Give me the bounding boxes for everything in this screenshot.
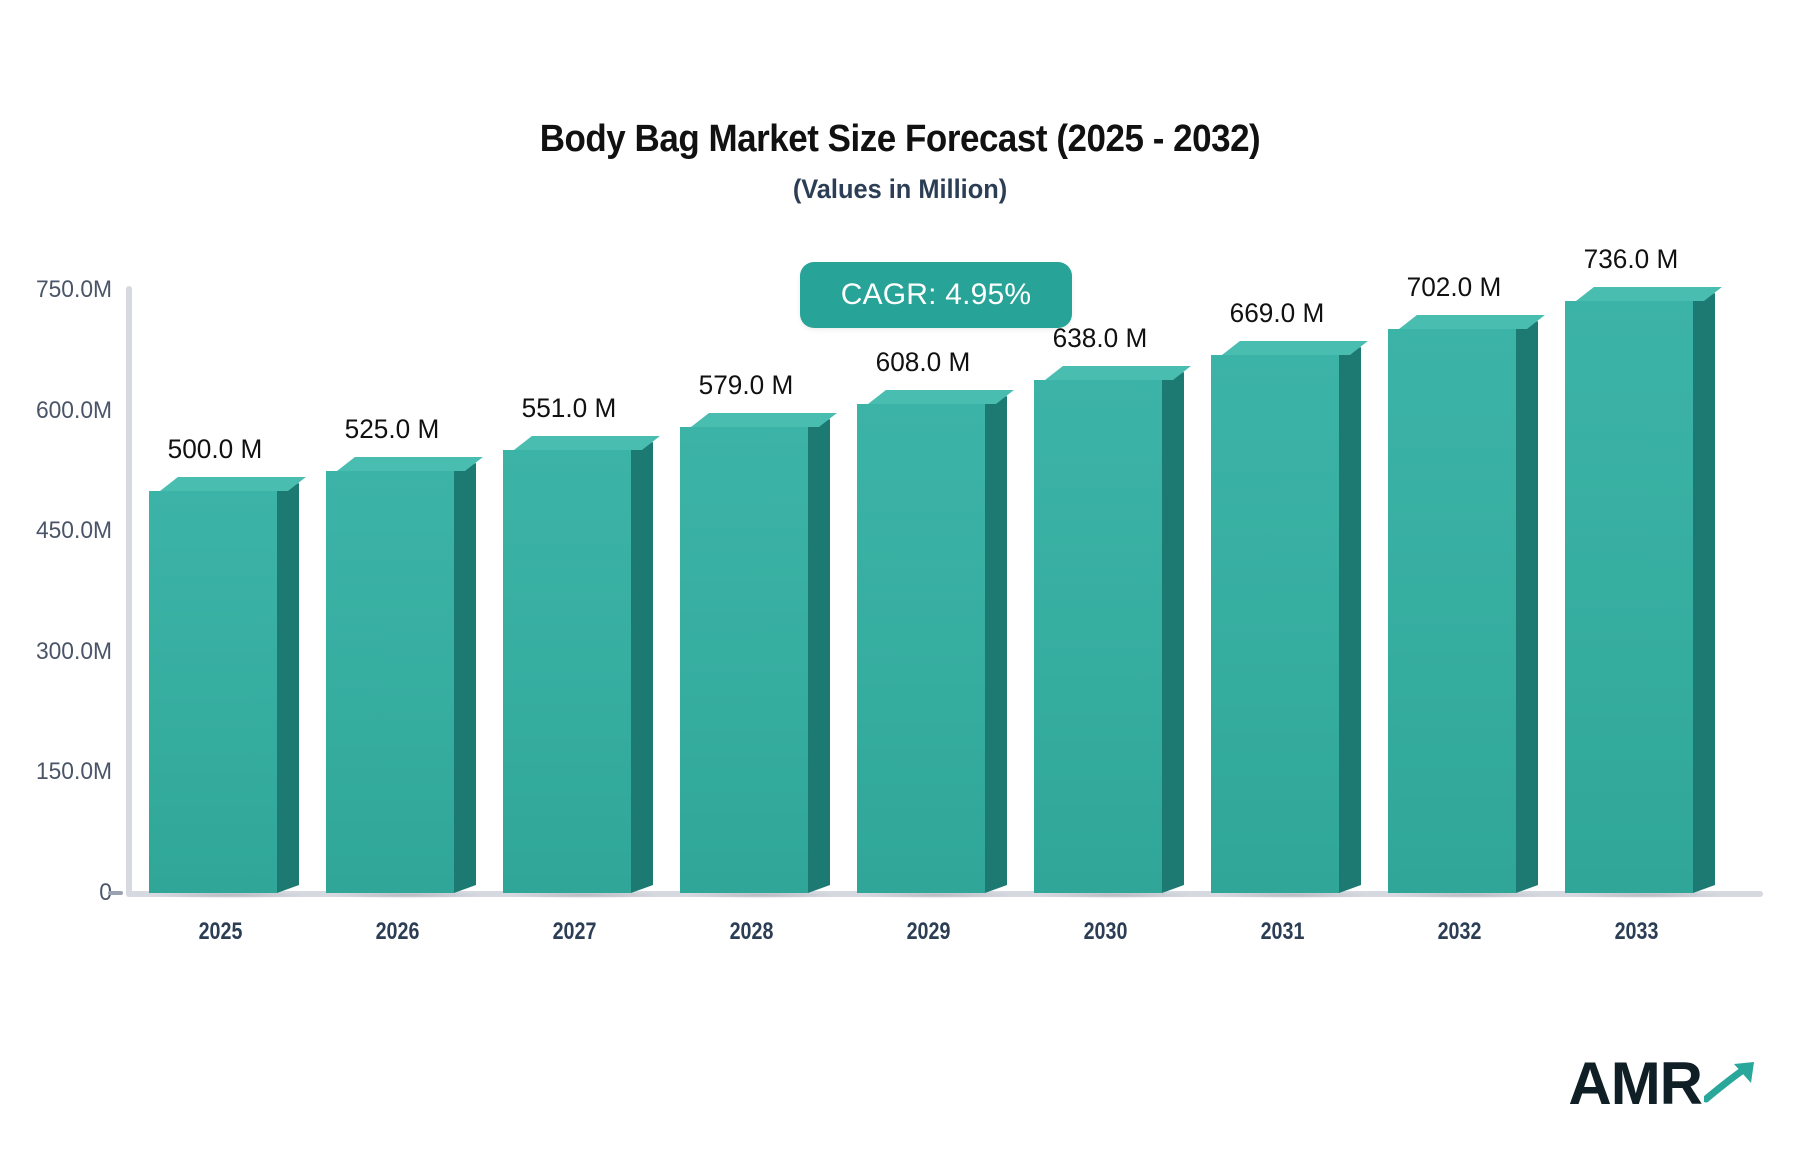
bar[interactable]: 525.0 M	[326, 471, 454, 893]
bar-top-face	[514, 436, 660, 450]
bar-value-label: 500.0 M	[167, 434, 262, 465]
cagr-badge-label: CAGR: 4.95%	[841, 278, 1032, 312]
bar-value-label: 579.0 M	[698, 370, 793, 401]
x-axis-category-label: 2033	[1564, 918, 1709, 946]
x-axis-category-label: 2025	[148, 918, 293, 946]
bar-front-face	[1034, 380, 1162, 893]
chart-container: Body Bag Market Size Forecast (2025 - 20…	[0, 0, 1800, 1156]
amr-logo-text: AMR	[1568, 1054, 1702, 1114]
bar-front-face	[680, 427, 808, 893]
bar-front-face	[857, 404, 985, 893]
x-axis-category-label: 2029	[856, 918, 1001, 946]
bar-value-label: 525.0 M	[344, 414, 439, 445]
y-axis-tick-label: 150.0M	[6, 758, 112, 786]
y-axis-tick-label: 600.0M	[6, 397, 112, 425]
x-axis-category-label: 2031	[1210, 918, 1355, 946]
bar-value-label: 702.0 M	[1406, 272, 1501, 303]
x-axis-category-label: 2026	[325, 918, 470, 946]
y-axis-tick-label: 450.0M	[6, 517, 112, 545]
bar[interactable]: 579.0 M	[680, 427, 808, 893]
bar-value-label: 669.0 M	[1229, 298, 1324, 329]
x-axis-category-label: 2032	[1387, 918, 1532, 946]
bar-top-face	[1222, 341, 1368, 355]
arrow-up-right-icon	[1704, 1059, 1760, 1110]
bar-value-label: 551.0 M	[521, 393, 616, 424]
bar-front-face	[326, 471, 454, 893]
bar[interactable]: 736.0 M	[1565, 301, 1693, 893]
x-axis-category-label: 2030	[1033, 918, 1178, 946]
bar-front-face	[1565, 301, 1693, 893]
bar-side-face	[631, 442, 653, 893]
y-axis-tick-label: 0	[6, 879, 112, 907]
bar-top-face	[691, 413, 837, 427]
bar-value-label: 638.0 M	[1052, 323, 1147, 354]
cagr-badge: CAGR: 4.95%	[800, 262, 1072, 328]
y-axis-tick-label: 300.0M	[6, 638, 112, 666]
bar-top-face	[160, 477, 306, 491]
bar-side-face	[985, 396, 1007, 893]
bar-side-face	[1339, 347, 1361, 893]
bar-side-face	[1162, 372, 1184, 893]
bar-side-face	[1516, 321, 1538, 893]
amr-logo: AMR	[1568, 1054, 1760, 1114]
bar[interactable]: 551.0 M	[503, 450, 631, 893]
bar-top-face	[1045, 366, 1191, 380]
chart-title: Body Bag Market Size Forecast (2025 - 20…	[72, 118, 1728, 161]
bar[interactable]: 638.0 M	[1034, 380, 1162, 893]
bar-front-face	[149, 491, 277, 893]
plot-area: 500.0 M525.0 M551.0 M579.0 M608.0 M638.0…	[132, 290, 1725, 893]
x-axis-category-label: 2028	[679, 918, 824, 946]
bar-top-face	[1399, 315, 1545, 329]
bar-front-face	[1211, 355, 1339, 893]
y-axis-tick-mark	[108, 891, 123, 895]
x-axis-category-label: 2027	[502, 918, 647, 946]
bar-side-face	[454, 463, 476, 893]
bar[interactable]: 500.0 M	[149, 491, 277, 893]
bar-value-label: 736.0 M	[1583, 244, 1678, 275]
bar[interactable]: 702.0 M	[1388, 329, 1516, 893]
bar-top-face	[337, 457, 483, 471]
bar-side-face	[808, 419, 830, 893]
bar-top-face	[1576, 287, 1722, 301]
bar-front-face	[1388, 329, 1516, 893]
chart-subtitle: (Values in Million)	[54, 174, 1746, 205]
y-axis-tick-label: 750.0M	[6, 276, 112, 304]
bar[interactable]: 669.0 M	[1211, 355, 1339, 893]
bar-side-face	[277, 483, 299, 893]
bar-side-face	[1693, 293, 1715, 893]
bar[interactable]: 608.0 M	[857, 404, 985, 893]
bar-front-face	[503, 450, 631, 893]
bar-value-label: 608.0 M	[875, 347, 970, 378]
bar-top-face	[868, 390, 1014, 404]
